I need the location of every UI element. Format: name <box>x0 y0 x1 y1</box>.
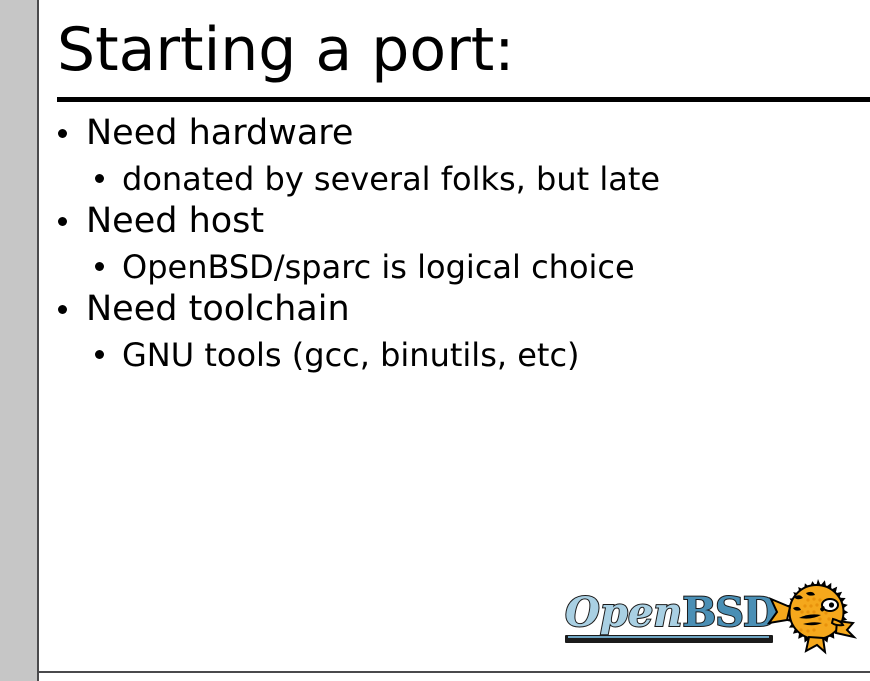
wordmark-underbar-highlight <box>568 636 769 638</box>
list-item: Need host <box>39 200 870 244</box>
bullet-dot-icon <box>58 217 67 226</box>
bullet-dot-icon <box>58 305 67 314</box>
list-item: Need toolchain <box>39 288 870 332</box>
list-item-label: Need hardware <box>86 111 353 155</box>
slide-page: Starting a port: Need hardware donated b… <box>0 0 870 681</box>
list-item: Need hardware <box>39 112 870 156</box>
openbsd-logo: OpenBSD <box>563 575 870 667</box>
bullet-dot-icon <box>95 350 104 359</box>
page-bottom-border <box>39 671 870 673</box>
list-item: donated by several folks, but late <box>39 156 870 200</box>
page-title: Starting a port: <box>57 14 514 86</box>
openbsd-wordmark-text: OpenBSD <box>565 591 777 635</box>
list-item: OpenBSD/sparc is logical choice <box>39 244 870 288</box>
list-item-label: Need host <box>86 199 264 243</box>
list-item-label: OpenBSD/sparc is logical choice <box>122 245 635 289</box>
wordmark-open-text: Open <box>565 589 682 636</box>
page-margin-band <box>0 0 37 681</box>
bullet-list: Need hardware donated by several folks, … <box>39 112 870 376</box>
bullet-dot-icon <box>58 129 67 138</box>
list-item: GNU tools (gcc, binutils, etc) <box>39 332 870 376</box>
bullet-dot-icon <box>95 262 104 271</box>
list-item-label: GNU tools (gcc, binutils, etc) <box>122 333 580 377</box>
slide-content-area: Starting a port: Need hardware donated b… <box>39 0 870 671</box>
list-item-label: Need toolchain <box>86 287 350 331</box>
puffy-blowfish-icon: OpenBSD <box>763 575 870 667</box>
title-underline-rule <box>57 97 870 102</box>
bullet-dot-icon <box>95 174 104 183</box>
list-item-label: donated by several folks, but late <box>122 157 660 201</box>
openbsd-wordmark: OpenBSD <box>563 591 779 643</box>
